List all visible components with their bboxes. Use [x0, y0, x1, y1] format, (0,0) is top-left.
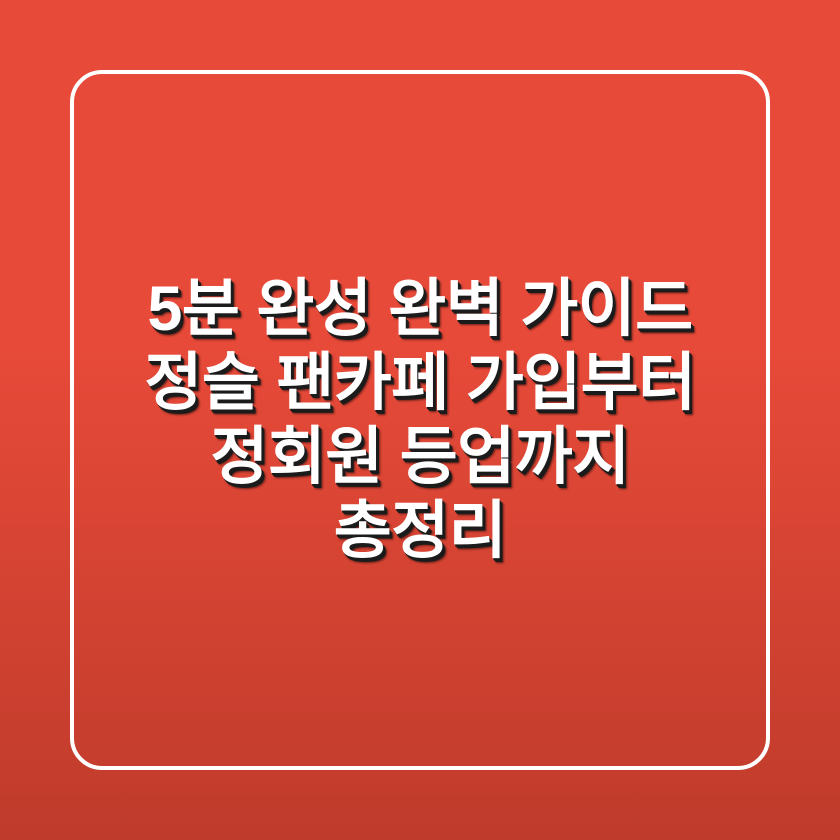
- headline-block: 5분 완성 완벽 가이드 정슬 팬카페 가입부터 정회원 등업까지 총정리: [70, 70, 770, 770]
- thumbnail-card: 5분 완성 완벽 가이드 정슬 팬카페 가입부터 정회원 등업까지 총정리: [0, 0, 840, 840]
- headline-line-3: 정회원 등업까지: [84, 420, 756, 494]
- headline-line-2: 정슬 팬카페 가입부터: [84, 346, 756, 420]
- headline-line-1: 5분 완성 완벽 가이드: [84, 272, 756, 346]
- headline-line-4: 총정리: [84, 494, 756, 568]
